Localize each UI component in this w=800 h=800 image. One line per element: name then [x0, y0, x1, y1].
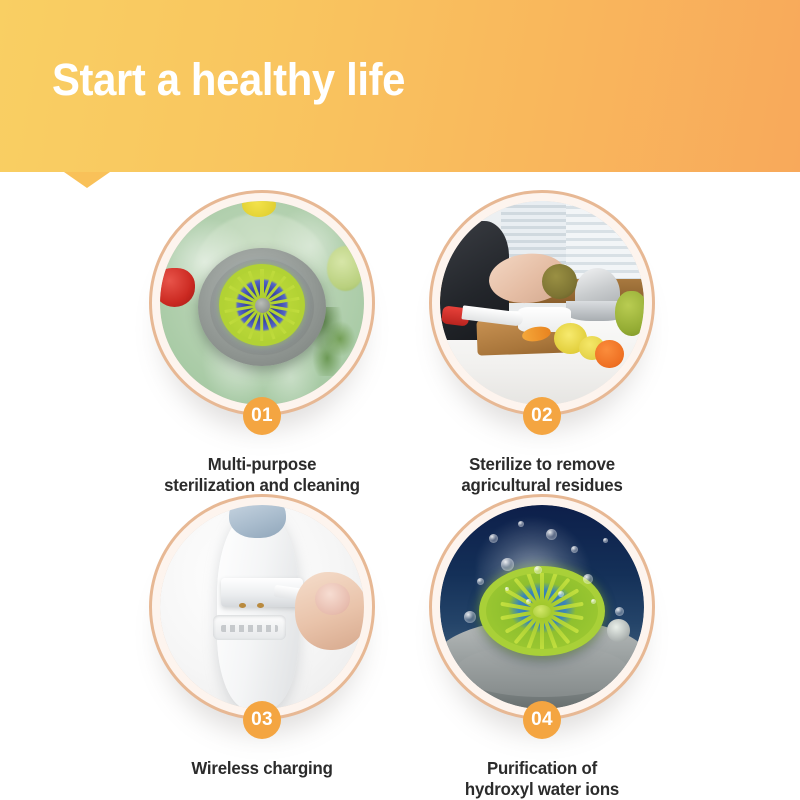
bubble-shape	[505, 587, 509, 591]
fingernail-shape	[315, 583, 350, 616]
bubble-shape	[534, 566, 542, 574]
vegetable-shape	[327, 246, 364, 291]
feature-caption-03: Wireless charging	[118, 758, 406, 779]
feature-card-02[interactable]: 02 Sterilize to remove agricultural resi…	[392, 190, 692, 496]
circle-ring-02	[429, 190, 655, 416]
bubble-shape	[591, 599, 596, 604]
feature-badge-04: 04	[523, 701, 561, 739]
pear-shape	[615, 291, 644, 336]
bubble-shape	[571, 546, 578, 553]
feature-image-wrap-03: 03	[149, 494, 375, 720]
feature-image-wrap-04: 04	[429, 494, 655, 720]
feature-card-01[interactable]: 01 Multi-purpose sterilization and clean…	[112, 190, 412, 496]
caption-line-2: sterilization and cleaning	[118, 475, 406, 496]
caption-line-1: Multi-purpose	[118, 454, 406, 475]
feature-photo-01	[160, 201, 364, 405]
kiwi-shape	[542, 264, 577, 299]
caption-line-1: Purification of	[398, 758, 686, 779]
feature-caption-04: Purification of hydroxyl water ions	[398, 758, 686, 800]
feature-caption-01: Multi-purpose sterilization and cleaning	[118, 454, 406, 496]
feature-image-wrap-01: 01	[149, 190, 375, 416]
feature-grid: 01 Multi-purpose sterilization and clean…	[0, 186, 800, 800]
bubble-shape	[603, 538, 608, 543]
circle-ring-04	[429, 494, 655, 720]
circle-ring-01	[149, 190, 375, 416]
header-banner: Start a healthy life	[0, 0, 800, 172]
feature-card-04[interactable]: 04 Purification of hydroxyl water ions	[392, 494, 692, 800]
feature-caption-02: Sterilize to remove agricultural residue…	[398, 454, 686, 496]
feature-badge-01: 01	[243, 397, 281, 435]
orange-shape	[595, 340, 624, 369]
bubble-shape	[526, 599, 531, 604]
circle-ring-03	[149, 494, 375, 720]
device-knob	[607, 619, 629, 641]
caption-line-2: agricultural residues	[398, 475, 686, 496]
caption-line-1: Wireless charging	[118, 758, 406, 779]
bubble-shape	[558, 591, 564, 597]
bubble-shape	[518, 521, 524, 527]
feature-card-03[interactable]: 03 Wireless charging	[112, 494, 412, 779]
caption-line-1: Sterilize to remove	[398, 454, 686, 475]
feature-badge-03: 03	[243, 701, 281, 739]
feature-photo-02	[440, 201, 644, 405]
device-body-shape	[217, 513, 299, 709]
page-title: Start a healthy life	[52, 54, 405, 106]
caption-line-2: hydroxyl water ions	[398, 779, 686, 800]
purifier-green-rim	[219, 264, 305, 346]
bubble-shape	[489, 534, 498, 543]
feature-photo-04	[440, 505, 644, 709]
feature-badge-02: 02	[523, 397, 561, 435]
feature-photo-03	[160, 505, 364, 709]
feature-image-wrap-02: 02	[429, 190, 655, 416]
